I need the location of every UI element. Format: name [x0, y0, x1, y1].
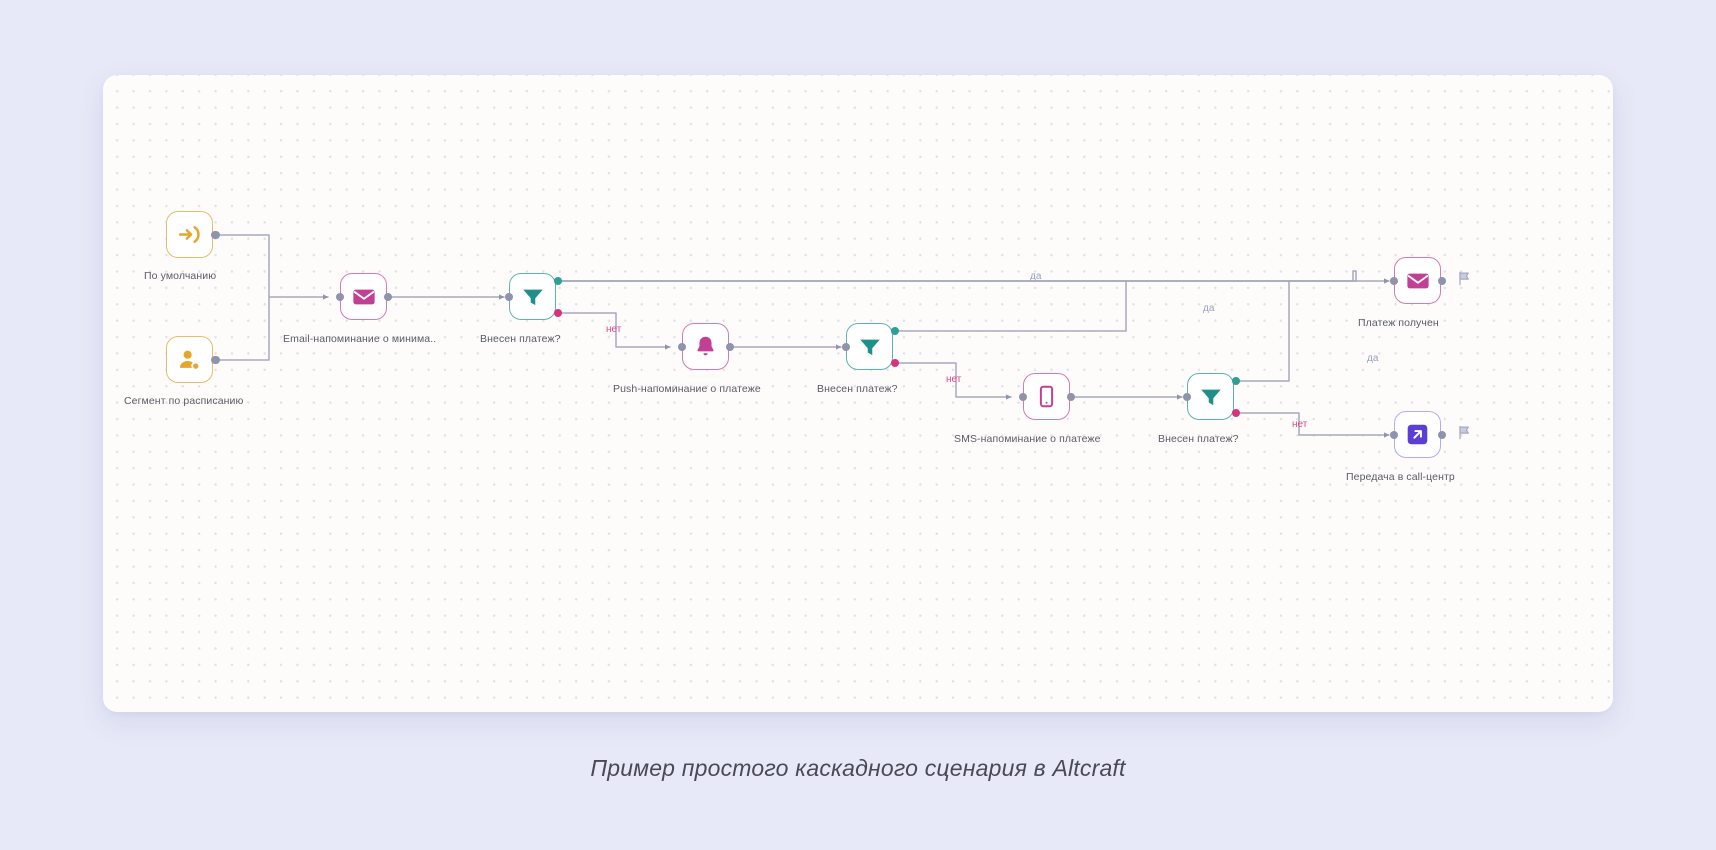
- node-label-payment-received: Платеж получен: [1358, 318, 1439, 329]
- flow-diagram: По умолчанию Сегмент по расписанию: [103, 75, 1613, 712]
- port-out-call-center[interactable]: [1438, 431, 1447, 440]
- port-in-check-1[interactable]: [505, 293, 514, 302]
- node-payment-received[interactable]: [1394, 257, 1441, 304]
- node-sms-reminder[interactable]: [1023, 373, 1070, 420]
- bell-icon: [693, 334, 718, 359]
- envelope-icon: [1405, 268, 1431, 294]
- page-root: По умолчанию Сегмент по расписанию: [0, 0, 1716, 850]
- port-out-no-check-1[interactable]: [554, 309, 563, 318]
- port-in-check-3[interactable]: [1183, 393, 1192, 402]
- port-in-push-reminder[interactable]: [678, 343, 687, 352]
- edge-label-no-3: нет: [1292, 420, 1307, 430]
- flag-icon: [1457, 271, 1471, 291]
- port-out-push-reminder[interactable]: [726, 343, 735, 352]
- edge-label-yes-3: да: [1367, 354, 1378, 364]
- port-out-start-default[interactable]: [211, 231, 220, 240]
- port-out-email-reminder[interactable]: [384, 293, 393, 302]
- node-check-1[interactable]: [509, 273, 556, 320]
- edge-label-yes-2: да: [1203, 304, 1214, 314]
- edge-label-yes-1: да: [1030, 272, 1041, 282]
- node-label-segment-schedule: Сегмент по расписанию: [124, 396, 244, 407]
- scenario-canvas[interactable]: По умолчанию Сегмент по расписанию: [103, 75, 1613, 712]
- node-label-check-1: Внесен платеж?: [480, 334, 561, 345]
- node-label-start-default: По умолчанию: [144, 271, 216, 282]
- enter-arrow-icon: [177, 222, 202, 247]
- port-out-no-check-2[interactable]: [891, 359, 900, 368]
- filter-funnel-icon: [857, 334, 883, 360]
- user-segment-icon: [177, 347, 202, 372]
- port-out-yes-check-1[interactable]: [554, 277, 563, 286]
- port-out-sms-reminder[interactable]: [1067, 393, 1076, 402]
- port-out-yes-check-2[interactable]: [891, 327, 900, 336]
- port-in-call-center[interactable]: [1390, 431, 1399, 440]
- node-label-push-reminder: Push-напоминание о платеже: [613, 384, 761, 395]
- node-label-check-2: Внесен платеж?: [817, 384, 898, 395]
- envelope-icon: [351, 284, 377, 310]
- node-label-call-center: Передача в call-центр: [1346, 472, 1455, 483]
- port-out-segment-schedule[interactable]: [211, 356, 220, 365]
- node-check-2[interactable]: [846, 323, 893, 370]
- port-out-payment-received[interactable]: [1438, 277, 1447, 286]
- node-call-center[interactable]: [1394, 411, 1441, 458]
- node-label-email-reminder: Email-напоминание о минима..: [283, 334, 436, 345]
- flag-icon: [1457, 425, 1471, 445]
- port-out-yes-check-3[interactable]: [1232, 377, 1241, 386]
- mobile-phone-icon: [1034, 384, 1059, 409]
- port-in-payment-received[interactable]: [1390, 277, 1399, 286]
- port-in-sms-reminder[interactable]: [1019, 393, 1028, 402]
- edge-label-no-1: нет: [606, 325, 621, 335]
- external-link-icon: [1405, 422, 1430, 447]
- node-email-reminder[interactable]: [340, 273, 387, 320]
- filter-funnel-icon: [1198, 384, 1224, 410]
- port-in-check-2[interactable]: [842, 343, 851, 352]
- edge-label-no-2: нет: [946, 375, 961, 385]
- node-check-3[interactable]: [1187, 373, 1234, 420]
- port-in-email-reminder[interactable]: [336, 293, 345, 302]
- figure-caption: Пример простого каскадного сценария в Al…: [0, 755, 1716, 782]
- node-start-default[interactable]: [166, 211, 213, 258]
- filter-funnel-icon: [520, 284, 546, 310]
- node-segment-schedule[interactable]: [166, 336, 213, 383]
- node-label-sms-reminder: SMS-напоминание о платеже: [954, 434, 1101, 445]
- node-label-check-3: Внесен платеж?: [1158, 434, 1239, 445]
- port-out-no-check-3[interactable]: [1232, 409, 1241, 418]
- node-push-reminder[interactable]: [682, 323, 729, 370]
